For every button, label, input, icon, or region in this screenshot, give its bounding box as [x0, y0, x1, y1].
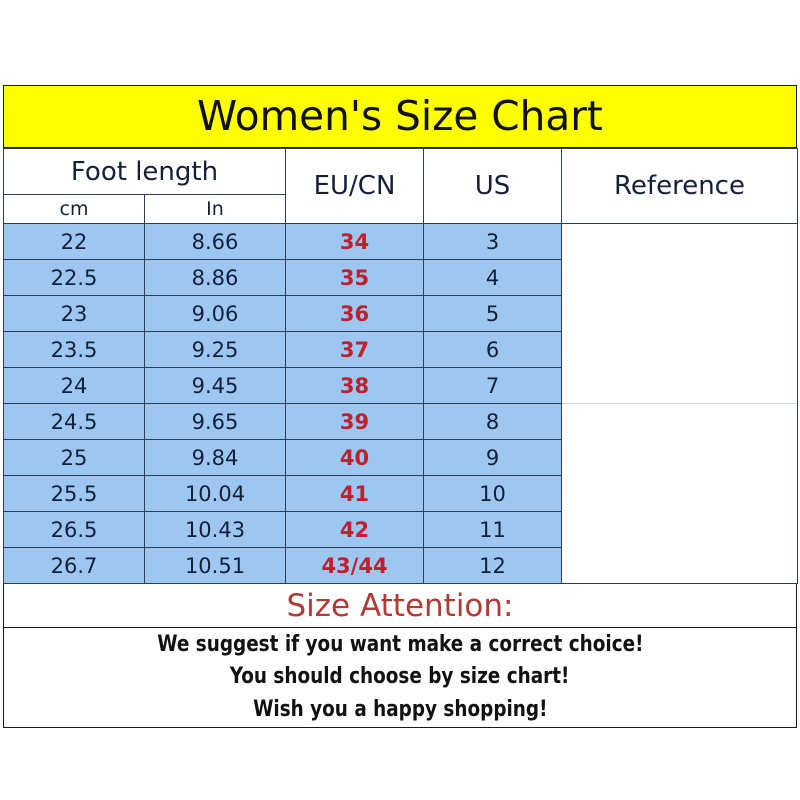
cell-cm: 22 [4, 224, 145, 260]
cell-us: 7 [424, 368, 562, 404]
cell-eu: 43/44 [286, 548, 424, 584]
cell-cm: 26.7 [4, 548, 145, 584]
cell-us: 12 [424, 548, 562, 584]
size-chart: Women's Size Chart Foot length EU/CN US … [3, 85, 797, 717]
cell-in: 10.04 [145, 476, 286, 512]
cell-eu: 36 [286, 296, 424, 332]
cell-cm: 24.5 [4, 404, 145, 440]
table-group-header-row: Foot length EU/CN US Reference [4, 149, 798, 195]
column-group-header-foot-length: Foot length [4, 149, 286, 195]
cell-eu: 37 [286, 332, 424, 368]
column-header-eu-cn: EU/CN [286, 149, 424, 224]
column-header-in: In [145, 195, 286, 224]
cell-in: 8.66 [145, 224, 286, 260]
cell-cm: 24 [4, 368, 145, 404]
cell-eu: 39 [286, 404, 424, 440]
cell-eu: 40 [286, 440, 424, 476]
table-row: 22 8.66 34 3 [4, 224, 798, 260]
cell-in: 9.65 [145, 404, 286, 440]
cell-in: 9.45 [145, 368, 286, 404]
size-attention-body: We suggest if you want make a correct ch… [3, 628, 797, 728]
cell-us: 3 [424, 224, 562, 260]
column-header-reference: Reference [562, 149, 798, 224]
cell-cm: 23.5 [4, 332, 145, 368]
cell-in: 10.51 [145, 548, 286, 584]
cell-eu: 38 [286, 368, 424, 404]
cell-us: 11 [424, 512, 562, 548]
cell-eu: 34 [286, 224, 424, 260]
attention-line: We suggest if you want make a correct ch… [157, 630, 643, 660]
cell-in: 9.84 [145, 440, 286, 476]
attention-line: Wish you a happy shopping! [253, 695, 547, 725]
column-header-cm: cm [4, 195, 145, 224]
column-header-us: US [424, 149, 562, 224]
size-attention-heading-text: Size Attention: [286, 588, 513, 624]
size-table: Foot length EU/CN US Reference cm In 22 … [3, 148, 798, 584]
attention-line: You should choose by size chart! [230, 662, 570, 692]
cell-in: 8.86 [145, 260, 286, 296]
cell-cm: 25.5 [4, 476, 145, 512]
cell-cm: 22.5 [4, 260, 145, 296]
cell-in: 10.43 [145, 512, 286, 548]
cell-cm: 26.5 [4, 512, 145, 548]
cell-us: 8 [424, 404, 562, 440]
cell-cm: 23 [4, 296, 145, 332]
page-title: Women's Size Chart [197, 96, 603, 137]
cell-us: 10 [424, 476, 562, 512]
cell-us: 4 [424, 260, 562, 296]
cell-eu: 41 [286, 476, 424, 512]
cell-us: 9 [424, 440, 562, 476]
reference-images-cell: 脚长 method:inner length of shoe=length of… [562, 224, 798, 584]
cell-eu: 35 [286, 260, 424, 296]
cell-cm: 25 [4, 440, 145, 476]
cell-in: 9.06 [145, 296, 286, 332]
cell-us: 6 [424, 332, 562, 368]
cell-in: 9.25 [145, 332, 286, 368]
size-attention-heading: Size Attention: [3, 584, 797, 628]
reference-divider [562, 403, 797, 404]
cell-us: 5 [424, 296, 562, 332]
chart-title-banner: Women's Size Chart [3, 85, 797, 148]
cell-eu: 42 [286, 512, 424, 548]
